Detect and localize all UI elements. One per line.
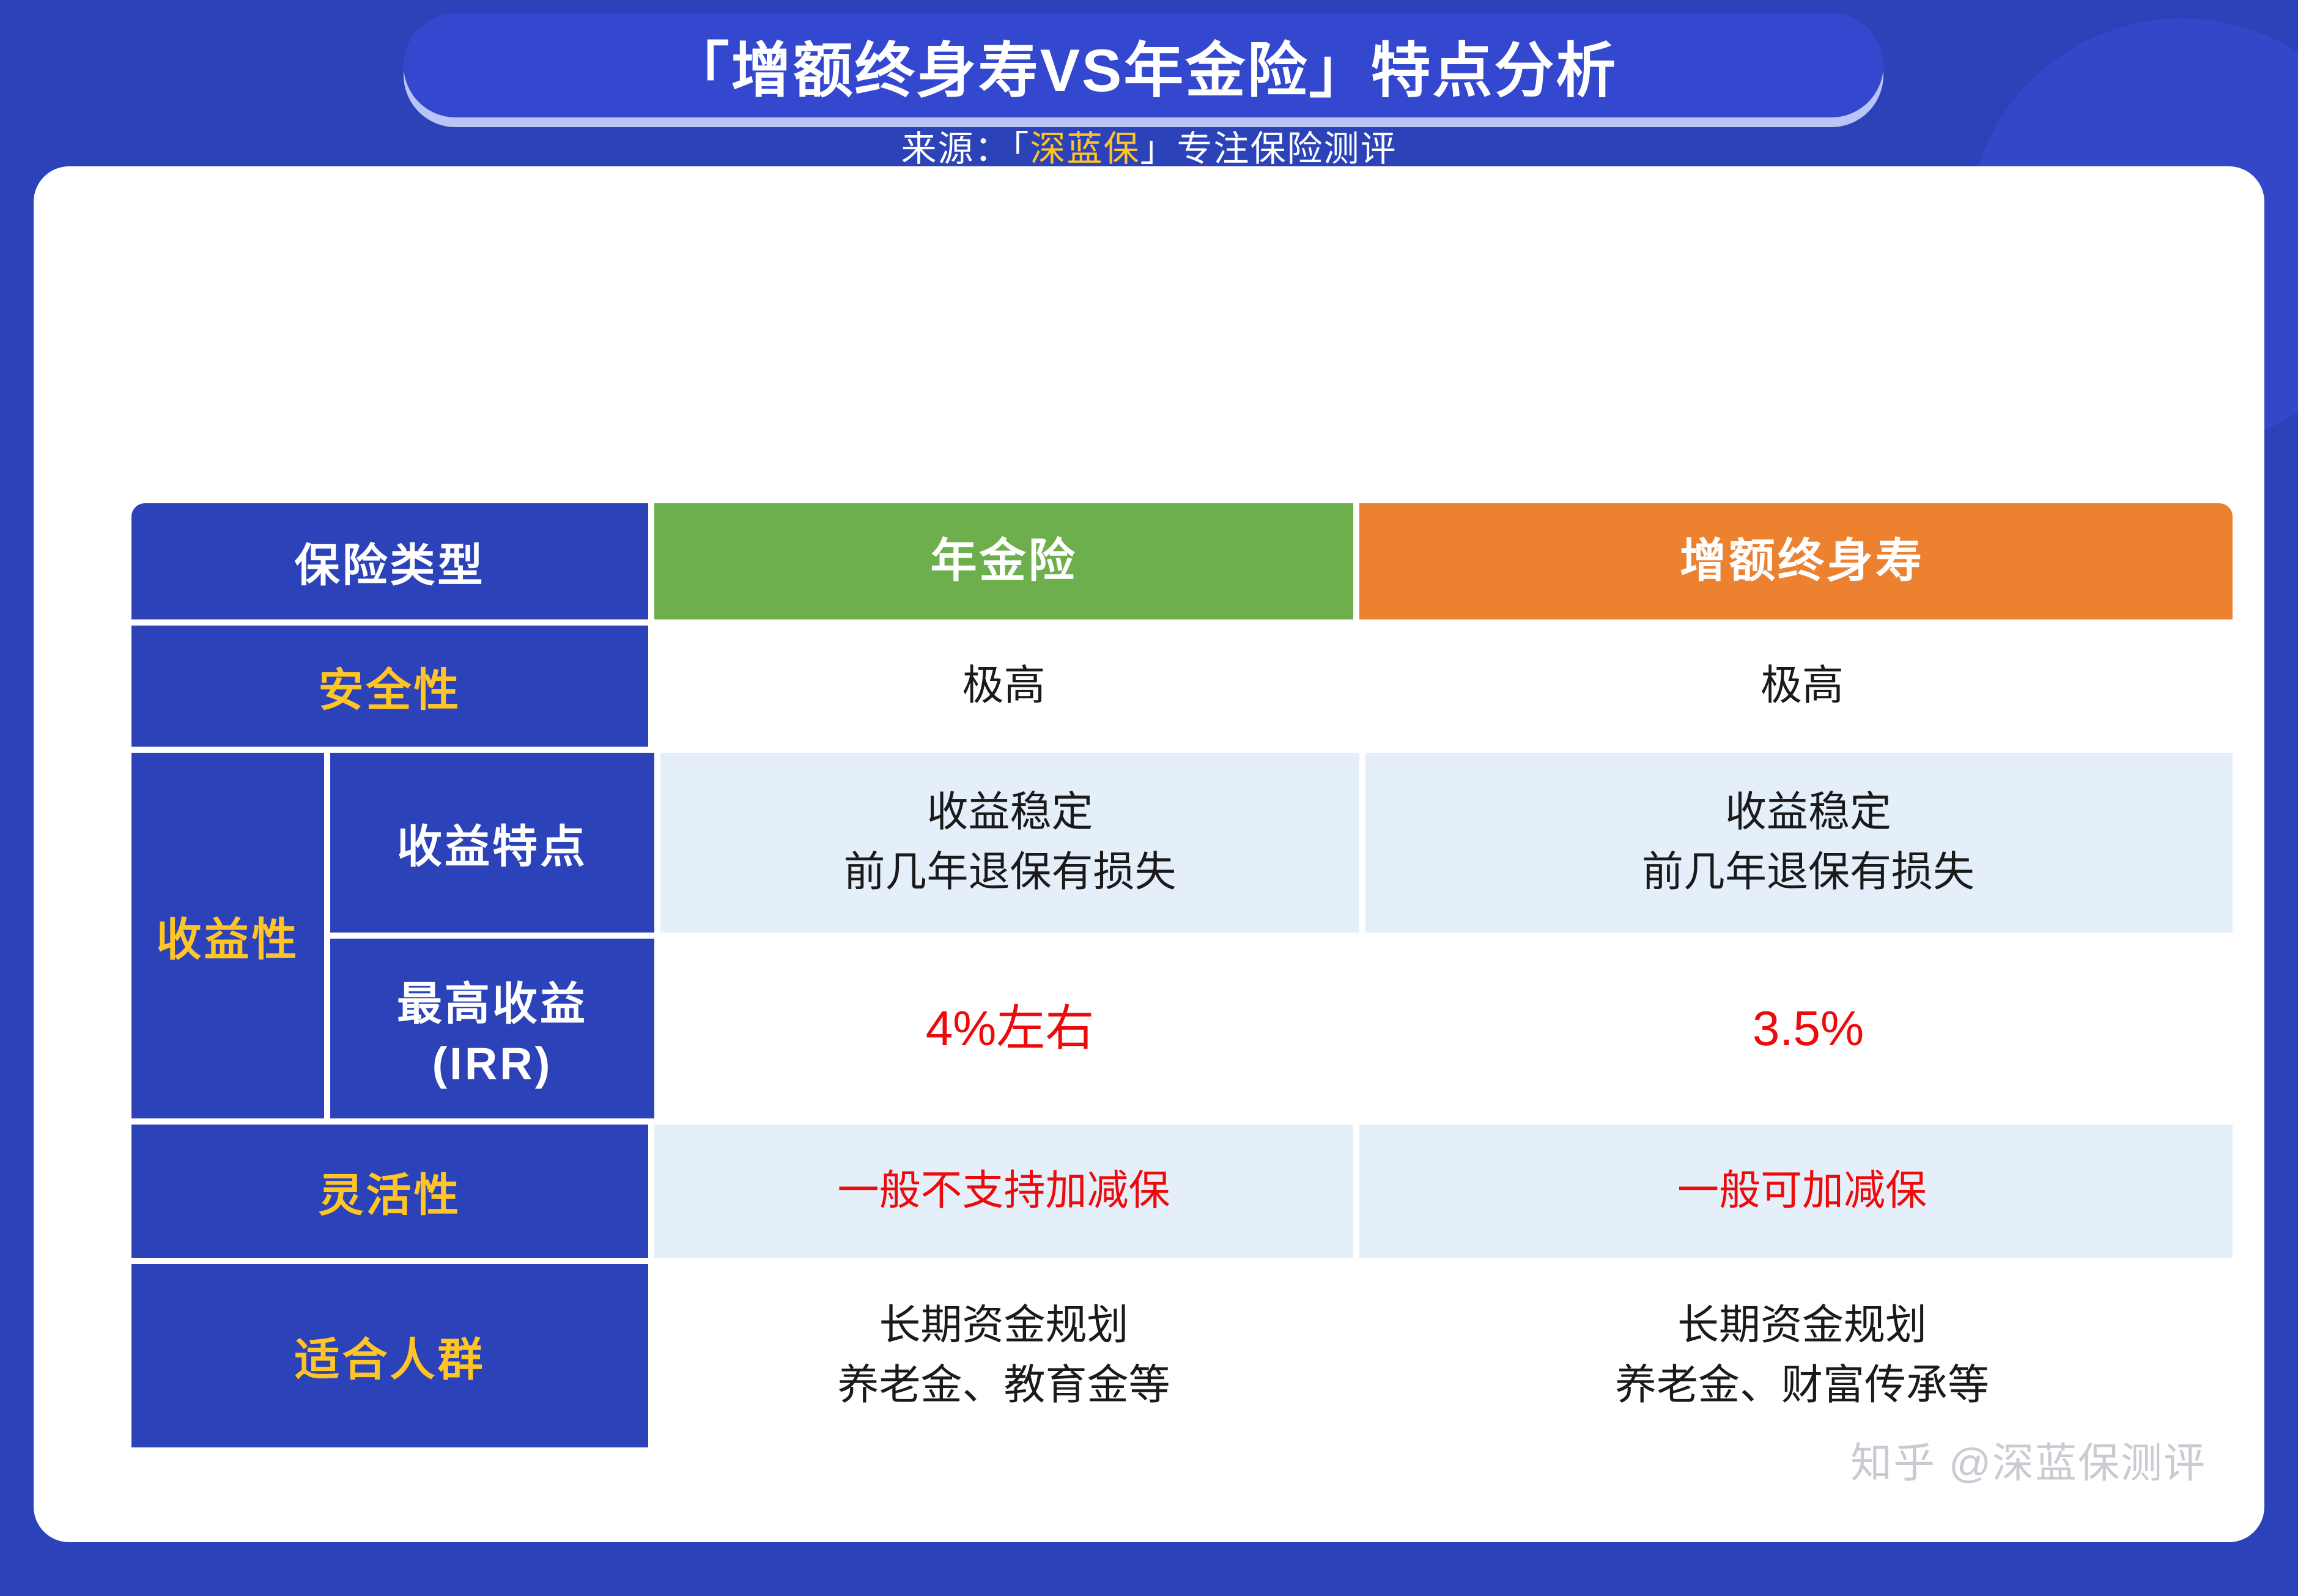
table-row: 适合人群 长期资金规划 养老金、教育金等 长期资金规划 养老金、财富传承等 [131, 1264, 2233, 1447]
title-banner: 「增额终身寿VS年金险」特点分析 [404, 13, 1883, 117]
cell-flexibility-annuity: 一般不支持加减保 [654, 1125, 1353, 1258]
column-divider [1353, 503, 1359, 619]
cell-target-audience-annuity: 长期资金规划 养老金、教育金等 [654, 1264, 1353, 1447]
sub-row-label-line-1: 最高收益 [397, 967, 588, 1033]
cell-line-1: 收益稳定 [843, 785, 1176, 840]
cell-safety-annuity: 极高 [654, 626, 1353, 747]
content-card: 深蓝 保 shenlanbao.com 独立｜专业｜诚信 保险类型 年金险 增额… [34, 166, 2264, 1542]
row-label-flexibility: 灵活性 [131, 1125, 648, 1258]
column-divider [648, 1125, 654, 1258]
subtitle-brand: 深蓝保 [1030, 129, 1140, 169]
comparison-table: 保险类型 年金险 增额终身寿 安全性 极高 极高 收益性 收益特点 [131, 503, 2233, 1542]
subtitle: 来源：「深蓝保」专注保险测评 [0, 120, 2298, 171]
column-divider [1359, 753, 1365, 933]
table-row-group-returns: 收益性 收益特点 收益稳定 前几年退保有损失 [131, 753, 2233, 1118]
column-divider [654, 939, 660, 1118]
cell-line-2: 养老金、教育金等 [837, 1358, 1170, 1413]
row-label-returns: 收益性 [131, 753, 324, 1118]
cell-return-features-wholelife: 收益稳定 前几年退保有损失 [1365, 753, 2233, 933]
footer-branding: 知乎 @深蓝保测评 [1850, 1429, 2206, 1490]
column-divider [648, 503, 654, 619]
page-title: 「增额终身寿VS年金险」特点分析 [670, 22, 1618, 109]
table-row: 安全性 极高 极高 [131, 626, 2233, 747]
cell-return-features-annuity: 收益稳定 前几年退保有损失 [660, 753, 1359, 933]
table-header-col-wholelife: 增额终身寿 [1359, 503, 2233, 619]
row-divider [131, 747, 2233, 753]
subtitle-suffix: 」专注保险测评 [1140, 129, 1397, 169]
column-divider [1359, 939, 1365, 1118]
row-divider [131, 1118, 2233, 1125]
table-header-row-label: 保险类型 [131, 503, 648, 619]
row-divider [330, 933, 2233, 939]
cell-line-1: 长期资金规划 [837, 1298, 1170, 1353]
column-divider [324, 753, 330, 1118]
row-divider [131, 1258, 2233, 1264]
cell-target-audience-wholelife: 长期资金规划 养老金、财富传承等 [1359, 1264, 2233, 1447]
cell-max-return-wholelife: 3.5% [1365, 939, 2233, 1118]
cell-max-return-annuity: 4%左右 [660, 939, 1359, 1118]
column-divider [1353, 1125, 1359, 1258]
subtitle-prefix: 来源：「 [901, 129, 1030, 169]
column-divider [648, 1264, 654, 1447]
table-row: 灵活性 一般不支持加减保 一般可加减保 [131, 1125, 2233, 1258]
sub-row-label-max-return: 最高收益 (IRR) [330, 939, 654, 1118]
table-header-row: 保险类型 年金险 增额终身寿 [131, 503, 2233, 619]
table-header-col-annuity: 年金险 [654, 503, 1353, 619]
cell-line-1: 收益稳定 [1642, 785, 1975, 840]
cell-flexibility-wholelife: 一般可加减保 [1359, 1125, 2233, 1258]
sub-row-label-return-features: 收益特点 [330, 753, 654, 933]
cell-line-2: 前几年退保有损失 [1642, 845, 1975, 900]
column-divider [1353, 626, 1359, 747]
sub-row-label-line-2: (IRR) [397, 1038, 588, 1090]
row-divider [131, 619, 2233, 626]
column-divider [654, 753, 660, 933]
table-row: 最高收益 (IRR) 4%左右 3.5% [330, 939, 2233, 1118]
cell-line-1: 长期资金规划 [1615, 1298, 1989, 1353]
cell-line-2: 养老金、财富传承等 [1615, 1358, 1989, 1413]
column-divider [648, 626, 654, 747]
cell-safety-wholelife: 极高 [1359, 626, 2233, 747]
column-divider [1353, 1264, 1359, 1447]
row-label-target-audience: 适合人群 [131, 1264, 648, 1447]
table-row: 收益特点 收益稳定 前几年退保有损失 收益稳定 前几年退保有损失 [330, 753, 2233, 933]
cell-line-2: 前几年退保有损失 [843, 845, 1176, 900]
row-label-safety: 安全性 [131, 626, 648, 747]
